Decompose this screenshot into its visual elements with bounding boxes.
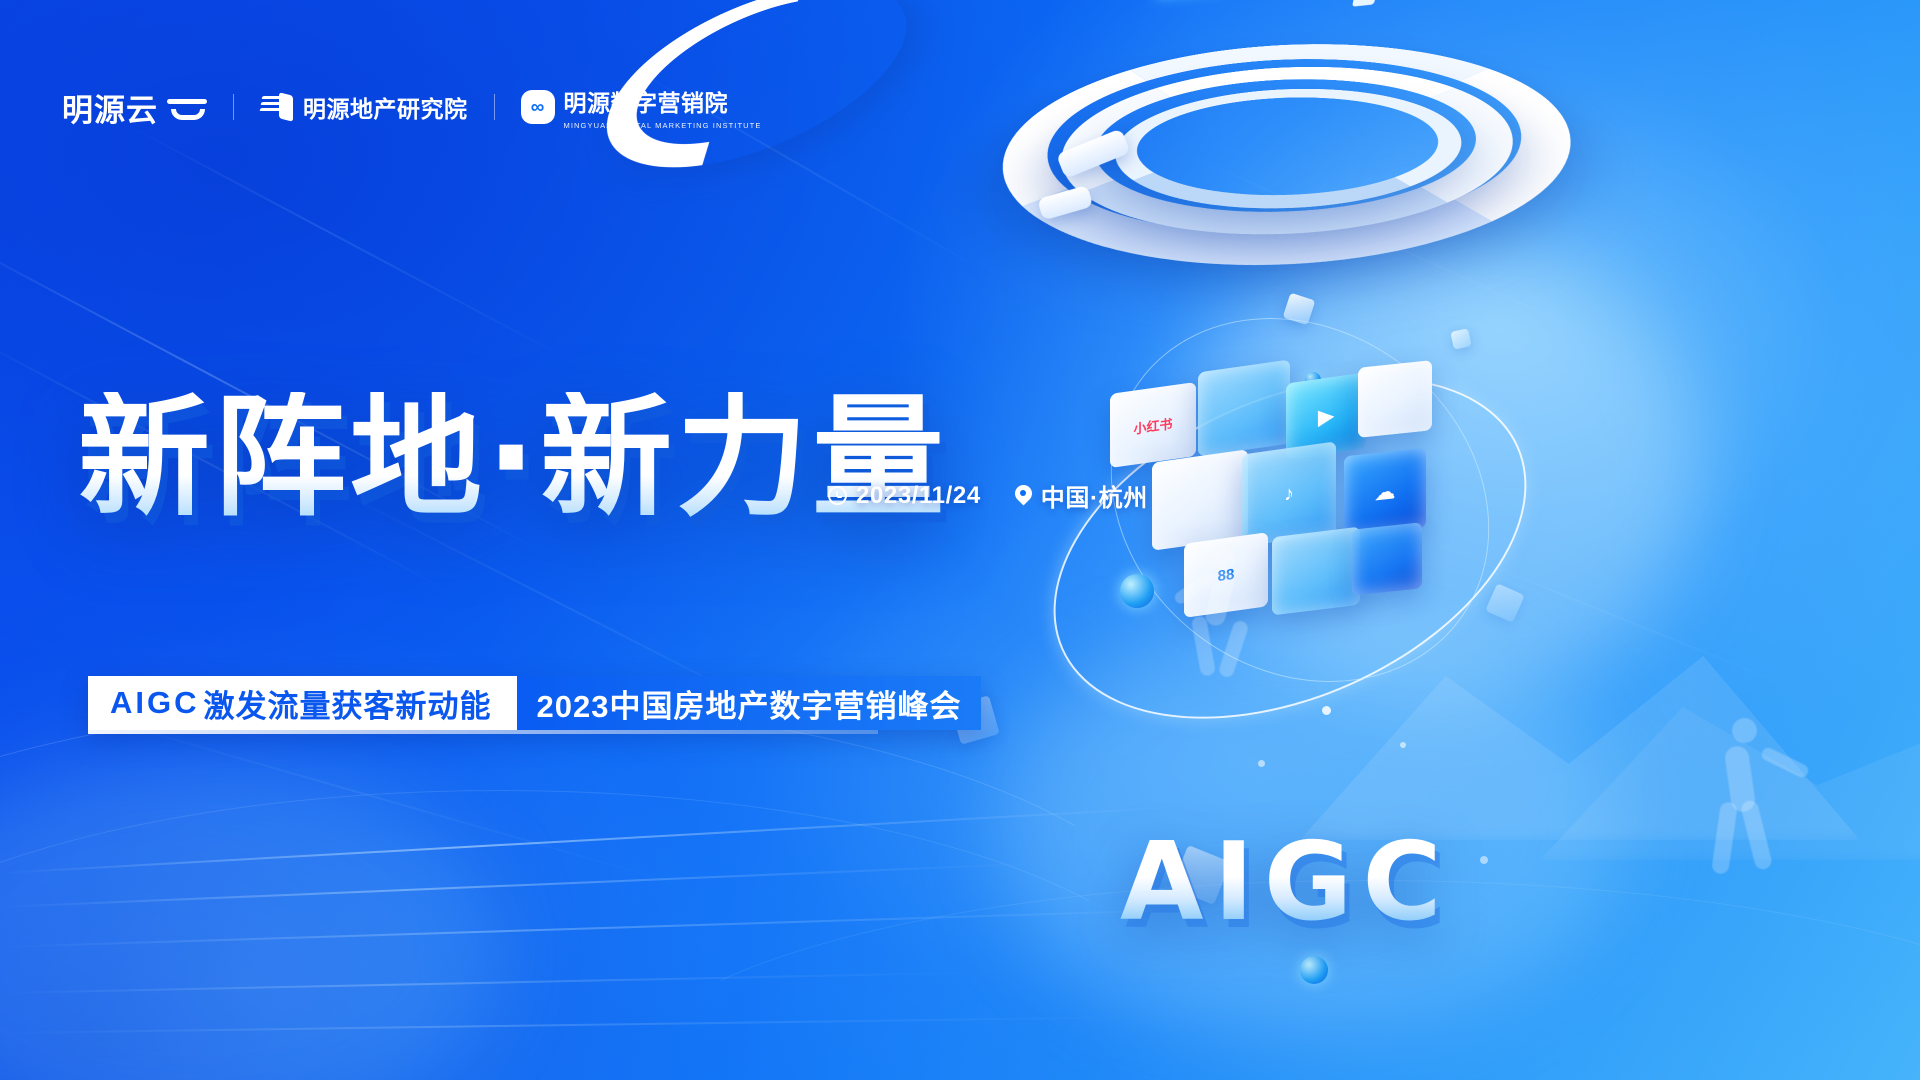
banner-right: 2023中国房地产数字营销峰会 <box>514 676 982 730</box>
event-date: 2023/11/24 <box>828 482 981 510</box>
poster-canvas: 小红书 ▶ ♪ ☁ 88 <box>0 0 1920 1080</box>
logo-label: 明源地产研究院 <box>303 90 468 124</box>
cube-label: ▶ <box>1318 402 1333 429</box>
cloud-icon <box>167 94 207 120</box>
mingyuan-circle-icon: ∞ <box>521 90 555 124</box>
logo-label: 明源数字营销院 <box>564 84 762 118</box>
location-pin-icon <box>1015 485 1032 507</box>
cube-white-c <box>1152 449 1248 550</box>
logo-divider <box>494 94 495 120</box>
cube-label: ♪ <box>1284 482 1294 506</box>
event-date-label: 2023/11/24 <box>856 482 981 510</box>
cube-deep-e <box>1352 522 1422 595</box>
event-meta: 2023/11/24 中国·杭州 <box>828 478 1148 513</box>
headline-separator: · <box>486 381 540 535</box>
banner-underline <box>88 730 878 734</box>
event-location: 中国·杭州 <box>1015 478 1148 513</box>
headline-part-1: 新阵地 <box>78 381 486 535</box>
page-title: 新阵地·新力量 <box>78 392 1018 552</box>
logo-real-estate-research-institute[interactable]: 明源地产研究院 <box>260 90 468 124</box>
subtitle-banner: AIGC激发流量获客新动能 2023中国房地产数字营销峰会 <box>88 676 981 730</box>
logo-divider <box>233 94 234 120</box>
cube-glass-d <box>1272 527 1360 616</box>
banner-aigc-label: AIGC <box>110 685 200 721</box>
logo-sublabel: MINGYUAN DIGITAL MARKETING INSTITUTE <box>564 121 762 130</box>
glass-cube-cluster: 小红书 ▶ ♪ ☁ 88 <box>1090 360 1510 660</box>
cube-label: 小红书 <box>1133 413 1172 437</box>
cube-white-b <box>1358 360 1432 438</box>
banner-left: AIGC激发流量获客新动能 <box>88 676 514 730</box>
cube-xiaohongshu: 小红书 <box>1110 382 1196 468</box>
clock-icon <box>828 486 847 505</box>
logo-mingyuan-cloud[interactable]: 明源云 <box>62 85 207 130</box>
book-icon <box>260 92 294 122</box>
banner-left-label: 激发流量获客新动能 <box>204 681 492 726</box>
logo-label: 明源云 <box>62 85 158 130</box>
event-location-label: 中国·杭州 <box>1041 478 1148 513</box>
logo-digital-marketing-institute[interactable]: ∞ 明源数字营销院 MINGYUAN DIGITAL MARKETING INS… <box>521 84 762 130</box>
aigc-3d-word: AIGC <box>1120 820 1452 945</box>
logo-bar: 明源云 明源地产研究院 ∞ 明源数字营销院 MINGYUAN DIGITAL M… <box>62 84 761 130</box>
cube-label: ☁ <box>1375 478 1395 505</box>
cube-glass-a <box>1198 360 1290 457</box>
